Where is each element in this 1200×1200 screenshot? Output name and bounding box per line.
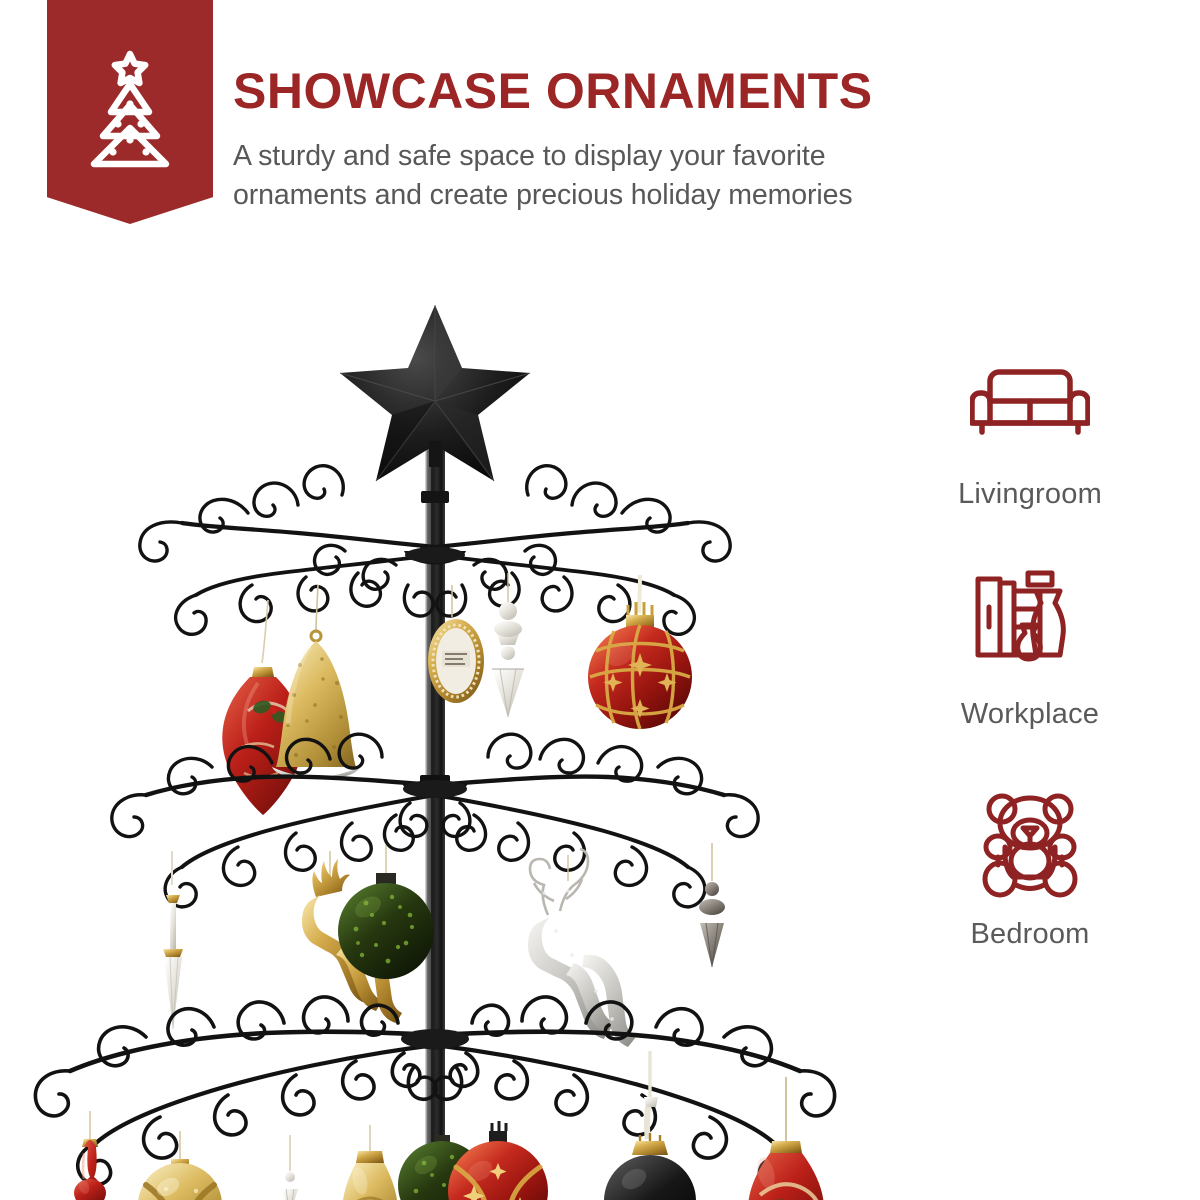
subtitle-line-2: ornaments and create precious holiday me… bbox=[233, 176, 1173, 215]
gold-filigree-ball-ornament bbox=[138, 1131, 222, 1200]
five-point-star-topper bbox=[340, 305, 530, 481]
feature-list: Livingroom bbox=[880, 350, 1180, 1010]
product-image-metal-ornament-display-tree bbox=[0, 255, 880, 1200]
christmas-tree-icon bbox=[47, 42, 213, 192]
gold-glitter-bell-ornament bbox=[272, 585, 360, 779]
vases-books-icon bbox=[970, 570, 1090, 680]
page-title: SHOWCASE ORNAMENTS bbox=[233, 66, 873, 116]
gold-teardrop-ornament bbox=[342, 1125, 398, 1200]
subtitle-line-1: A sturdy and safe space to display your … bbox=[233, 137, 1173, 176]
green-glitter-ball-ornament bbox=[338, 845, 434, 979]
feature-label-bedroom: Bedroom bbox=[970, 918, 1089, 951]
feature-item-livingroom: Livingroom bbox=[880, 350, 1180, 570]
red-snowflake-ball-ornament bbox=[448, 1121, 548, 1200]
sofa-icon bbox=[970, 350, 1090, 460]
header: SHOWCASE ORNAMENTS A sturdy and safe spa… bbox=[0, 0, 1200, 250]
feature-label-workplace: Workplace bbox=[961, 698, 1099, 731]
page-subtitle: A sturdy and safe space to display your … bbox=[233, 137, 1173, 216]
black-gold-cap-ornament bbox=[604, 1051, 696, 1200]
feature-item-workplace: Workplace bbox=[880, 570, 1180, 790]
smoke-crystal-drop-ornament bbox=[699, 843, 725, 967]
teddy-bear-icon bbox=[976, 790, 1084, 900]
feature-item-bedroom: Bedroom bbox=[880, 790, 1180, 1010]
small-crystal-drop-ornament bbox=[282, 1135, 298, 1200]
red-painted-holly-ornament bbox=[748, 1077, 824, 1200]
feature-label-livingroom: Livingroom bbox=[958, 478, 1102, 511]
crystal-icicle-drop-ornament bbox=[163, 851, 183, 1029]
